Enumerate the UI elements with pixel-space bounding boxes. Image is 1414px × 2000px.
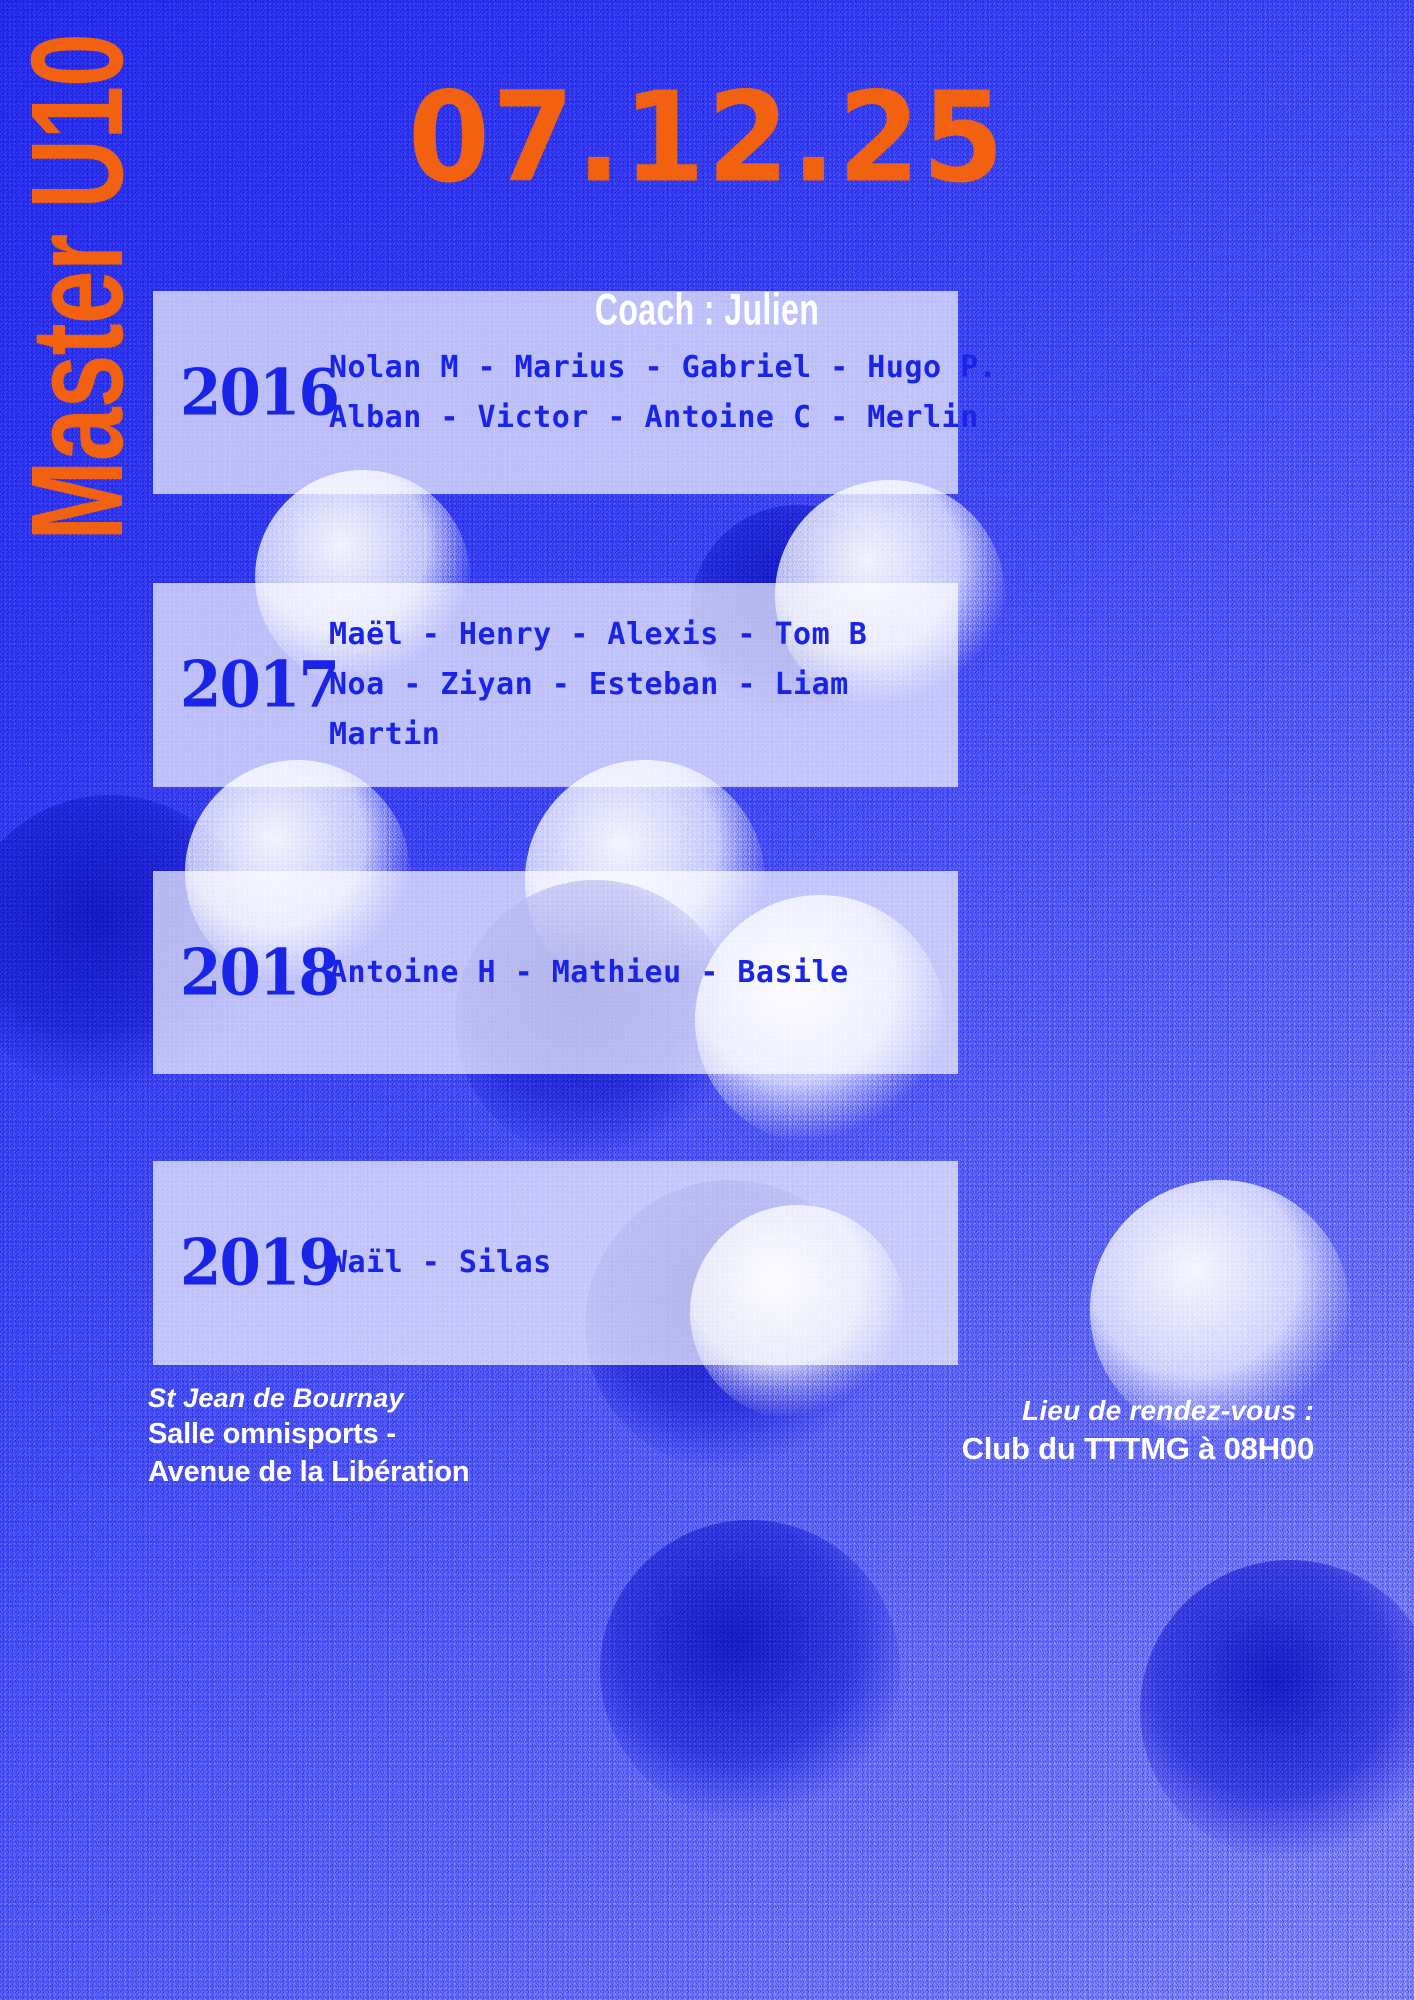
meeting-point-value: Club du TTTMG à 08H00 xyxy=(962,1429,1314,1469)
player-list: Waïl - Silas xyxy=(329,1238,552,1288)
venue-address-block: St Jean de Bournay Salle omnisports - Av… xyxy=(148,1381,469,1491)
player-list: Antoine H - Mathieu - Basile xyxy=(329,948,849,998)
player-line: Antoine H - Mathieu - Basile xyxy=(329,955,849,990)
poster-canvas: Master U10 07.12.25 Coach : Julien 2016 … xyxy=(0,0,1414,2000)
event-date: 07.12.25 xyxy=(0,74,1414,199)
year-panel-2018: 2018 Antoine H - Mathieu - Basile xyxy=(153,871,958,1074)
year-label: 2017 xyxy=(180,653,326,716)
player-line: Nolan M - Marius - Gabriel - Hugo P. xyxy=(329,350,997,385)
year-label: 2018 xyxy=(180,941,326,1004)
meeting-point-block: Lieu de rendez-vous : Club du TTTMG à 08… xyxy=(962,1393,1314,1470)
year-label: 2019 xyxy=(180,1231,326,1294)
year-panel-2016: 2016 Nolan M - Marius - Gabriel - Hugo P… xyxy=(153,291,958,494)
venue-name: Salle omnisports - xyxy=(148,1416,469,1454)
player-line: Maël - Henry - Alexis - Tom B xyxy=(329,617,867,652)
player-list: Maël - Henry - Alexis - Tom BNoa - Ziyan… xyxy=(329,610,867,759)
year-panel-2017: 2017 Maël - Henry - Alexis - Tom BNoa - … xyxy=(153,583,958,787)
player-line: Alban - Victor - Antoine C - Merlin xyxy=(329,400,979,435)
venue-street: Avenue de la Libération xyxy=(148,1454,469,1492)
meeting-point-label: Lieu de rendez-vous : xyxy=(962,1393,1314,1429)
year-panel-2019: 2019 Waïl - Silas xyxy=(153,1161,958,1365)
venue-city: St Jean de Bournay xyxy=(148,1381,469,1416)
year-label: 2016 xyxy=(180,361,326,424)
player-line: Waïl - Silas xyxy=(329,1245,552,1280)
player-line: Noa - Ziyan - Esteban - Liam xyxy=(329,667,849,702)
player-list: Nolan M - Marius - Gabriel - Hugo P.Alba… xyxy=(329,343,997,443)
player-line: Martin xyxy=(329,717,440,752)
